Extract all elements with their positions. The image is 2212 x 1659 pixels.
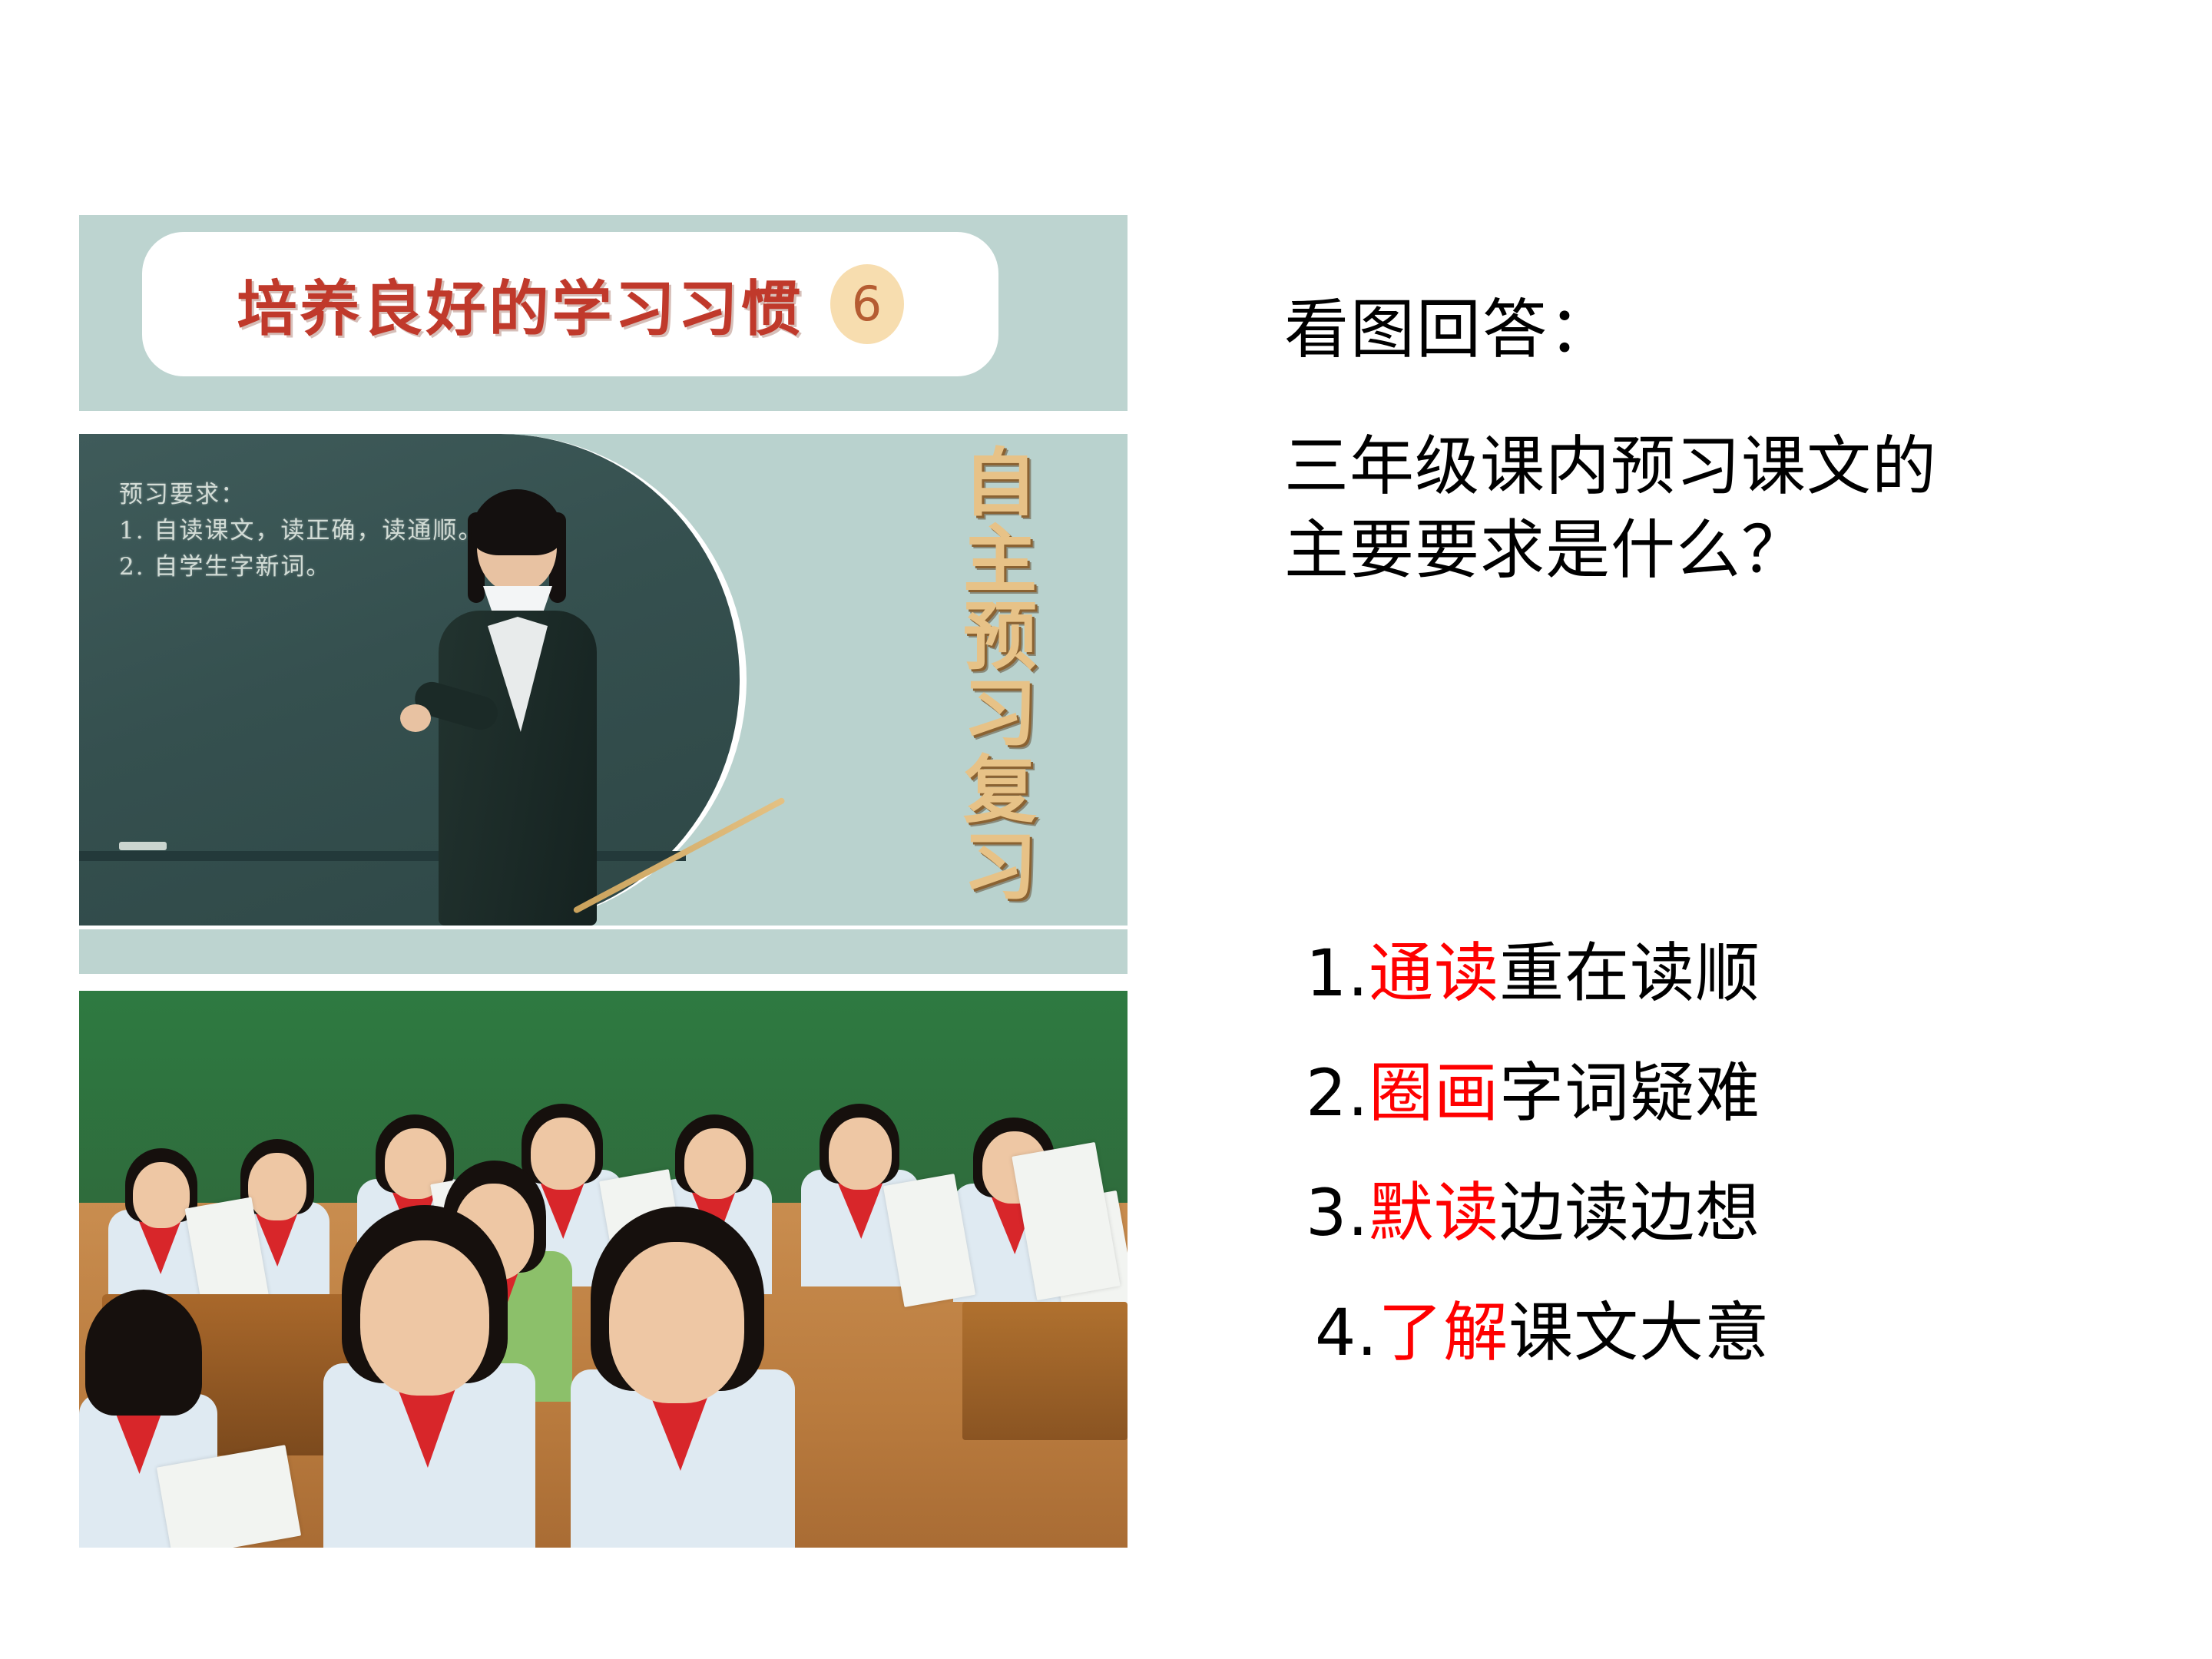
chalk-stick-icon [119, 842, 167, 850]
answer-body: 边读边想 [1499, 1175, 1760, 1250]
question-text: 三年级课内预习课文的 主要要求是什么？ [1284, 425, 2190, 592]
vertical-char-5: 习 [963, 830, 1037, 906]
answer-keyword: 圈画 [1369, 1055, 1499, 1131]
student-hair [85, 1290, 202, 1416]
answer-body: 课文大意 [1508, 1295, 1770, 1370]
answer-item-2: 2.圈画字词疑难 [1306, 1061, 2212, 1125]
student-head [829, 1118, 892, 1190]
student-front-right [555, 1179, 809, 1548]
volume-number-badge: 6 [830, 264, 904, 344]
answer-number: 4. [1315, 1295, 1378, 1370]
question-line-2: 主要要求是什么？ [1284, 508, 2190, 592]
prompt-text: 看图回答： [1284, 292, 2190, 368]
answer-keyword: 通读 [1369, 935, 1499, 1011]
vertical-char-1: 主 [963, 523, 1037, 598]
answer-number: 2. [1306, 1055, 1369, 1131]
vertical-char-2: 预 [963, 600, 1037, 675]
answer-body: 字词疑难 [1499, 1055, 1760, 1131]
vertical-char-4: 复 [963, 753, 1037, 829]
textbook-header-title: 培养良好的学习习惯 [237, 261, 803, 347]
student-front-left [310, 1171, 548, 1548]
answer-list: 1.通读重在读顺 2.圈画字词疑难 3.默读边读边想 4.了解课文大意 [1306, 941, 2212, 1365]
answer-number: 1. [1306, 935, 1369, 1011]
teal-divider-band [79, 929, 1128, 974]
vertical-gold-title: 自 主 预 习 复 习 [954, 446, 1046, 905]
teacher-hand [400, 704, 431, 732]
student-head [133, 1162, 190, 1228]
student-head [609, 1242, 744, 1403]
answer-item-3: 3.默读边读边想 [1306, 1181, 2212, 1245]
question-line-1: 三年级课内预习课文的 [1284, 425, 2190, 508]
textbook-page-figure: 培养良好的学习习惯 6 预习要求： 1. 自读课文，读正确，读通顺。 2. 自学… [79, 215, 1128, 1548]
student-desk [962, 1302, 1128, 1440]
student-head [248, 1153, 306, 1220]
chalkboard: 预习要求： 1. 自读课文，读正确，读通顺。 2. 自学生字新词。 [79, 434, 747, 926]
answer-keyword: 了解 [1378, 1295, 1508, 1370]
header-title-pill: 培养良好的学习习惯 6 [142, 232, 998, 376]
teacher-figure [417, 495, 617, 926]
student-head [360, 1240, 489, 1396]
question-column: 看图回答： 三年级课内预习课文的 主要要求是什么？ [1284, 292, 2190, 592]
answer-keyword: 默读 [1369, 1175, 1499, 1250]
teacher-blackboard-photo: 预习要求： 1. 自读课文，读正确，读通顺。 2. 自学生字新词。 自 主 预 … [79, 434, 1128, 926]
vertical-char-3: 习 [963, 677, 1037, 752]
answer-item-4: 4.了解课文大意 [1306, 1300, 2212, 1365]
teacher-hair [471, 489, 563, 555]
textbook-header-band: 培养良好的学习习惯 6 [79, 215, 1128, 411]
vertical-char-0: 自 [963, 446, 1037, 522]
answer-item-1: 1.通读重在读顺 [1306, 941, 2212, 1005]
classroom-photo [79, 991, 1128, 1548]
answer-body: 重在读顺 [1499, 935, 1760, 1011]
answer-number: 3. [1306, 1175, 1369, 1250]
